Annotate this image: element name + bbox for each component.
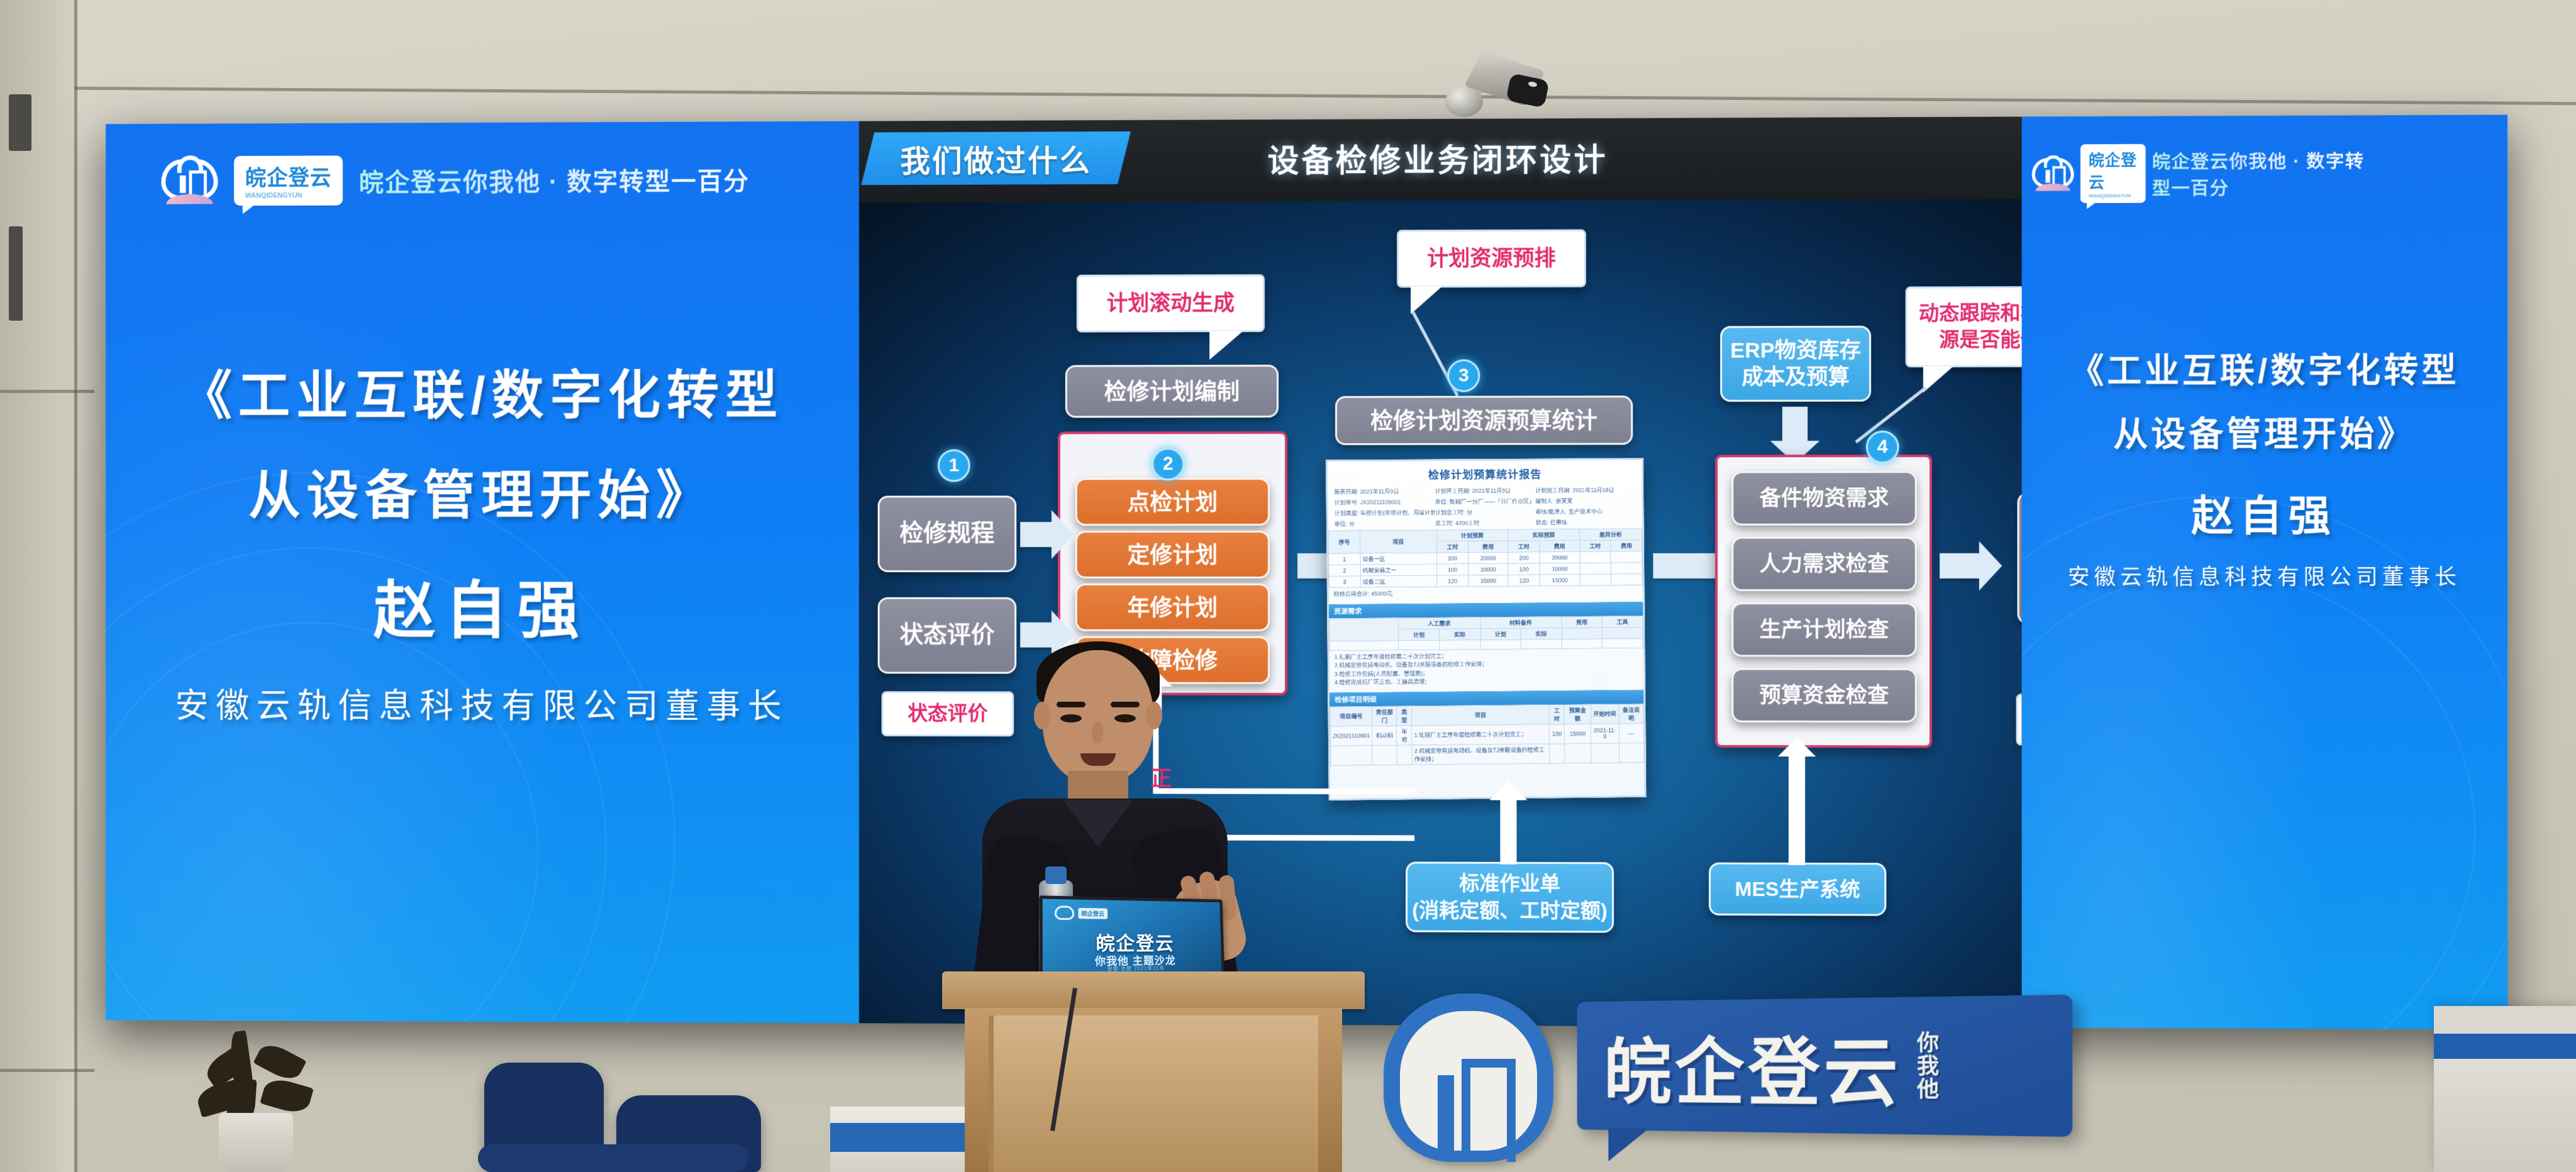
node-mes-system: MES生产系统 <box>1709 863 1886 916</box>
deck-title-line2: 从设备管理开始》 <box>106 453 859 529</box>
brand-tagline: 皖企登云你我他 · 数字转型一百分 <box>359 161 750 199</box>
report-sub-header: 费用 <box>1540 540 1580 551</box>
report-meta-item: 报表日期: 2021年11月9日 <box>1334 485 1435 497</box>
node-check-0: 备件物资需求 <box>1731 471 1917 526</box>
report-detail-table: 项目编号 责任部门 类型 项目 工时 预算金额 开始时间 备注说明 JX2021… <box>1330 704 1644 766</box>
report-group-header: 差异分析 <box>1579 529 1642 541</box>
arrow-std-up <box>1500 799 1516 865</box>
callout-risk-prompt: 风险提示 <box>2016 694 2022 746</box>
callout-dynamic-tracking: 动态跟踪和检查资源是否能保障 <box>1906 286 2022 367</box>
left-title-panel: 皖企登云 WANQIDENGYUN 皖企登云你我他 · 数字转型一百分 《工业互… <box>106 121 859 1024</box>
report-screenshot: 检修计划预算统计报告 报表日期: 2021年11月9日 计划开工日期: 2021… <box>1326 458 1646 800</box>
report-meta-item: 计划总工时: 分 <box>1435 506 1536 517</box>
brand-chip: 皖企登云 WANQIDENGYUN <box>2080 144 2146 203</box>
node-plan-item-2: 年修计划 <box>1075 583 1270 631</box>
report-sub-header: 工时 <box>1579 540 1611 551</box>
bottle-cap <box>1045 866 1067 884</box>
deck-speaker-name: 赵自强 <box>2022 482 2507 543</box>
deck-title-line1: 《工业互联/数字化转型 <box>2022 342 2507 393</box>
report-sub-header: 工时 <box>1436 541 1468 553</box>
table-row: 2.机械定修包括电动机、设备及TJ关联设备的检修工作安排； <box>1330 743 1644 765</box>
report-sub-header: 费用 <box>1468 541 1508 552</box>
step-badge-2: 2 <box>1152 448 1184 480</box>
report-meta-item: 计划单号: JX20211109001 <box>1334 496 1435 507</box>
report-meta-item: 编制人: 张某某 <box>1535 495 1635 506</box>
callout-resource-prearrange: 计划资源预排 <box>1397 229 1586 288</box>
wanqi-cloud-logo-icon <box>161 157 218 206</box>
security-camera-icon <box>1434 38 1547 113</box>
report-sub-header: 工时 <box>1508 541 1540 552</box>
arrow-erp-down <box>1782 407 1807 442</box>
report-col-no: 序号 <box>1328 531 1360 553</box>
node-check-2: 生产计划检查 <box>1731 602 1917 657</box>
wall-seam <box>0 390 94 393</box>
report-note-line: 4.检修完成后厂区三包、工器具清理； <box>1335 676 1638 687</box>
deck-title-line1: 《工业互联/数字化转型 <box>106 353 859 429</box>
slide-title: 设备检修业务闭环设计 <box>859 133 2022 183</box>
brand-chip-text: 皖企登云 <box>2089 152 2137 191</box>
step-badge-4: 4 <box>1866 431 1899 463</box>
step-badge-3: 3 <box>1447 359 1480 392</box>
report-meta-item: 计划开工日期: 2021年11月9日 <box>1435 485 1535 496</box>
laptop-brand-chip: 皖企登云 <box>1078 907 1108 919</box>
deck-speaker-name: 赵自强 <box>106 560 859 650</box>
laptop-brand: 皖企登云 <box>1055 905 1108 920</box>
report-title: 检修计划预算统计报告 <box>1328 460 1642 485</box>
sign-side-text: 你我他 <box>1914 1031 1937 1101</box>
side-table-right <box>2434 1006 2576 1172</box>
callout-text: 计划滚动生成 <box>1107 289 1235 318</box>
deck-speaker-role: 安徽云轨信息科技有限公司董事长 <box>106 678 859 728</box>
node-plan-compile: 检修计划编制 <box>1065 365 1279 417</box>
report-meta-item: 单位: 分 <box>1335 517 1435 529</box>
callout-tail <box>1923 366 1954 392</box>
report-sub-header: 费用 <box>1611 540 1642 551</box>
report-meta-item: 单位: 炼钢厂一分厂——「分厂作业区」 <box>1435 495 1536 507</box>
brand-tagline: 皖企登云你我他 · 数字转型一百分 <box>2152 146 2371 200</box>
brand-chip: 皖企登云 WANQIDENGYUN <box>234 155 343 206</box>
report-col-name: 项目 <box>1360 530 1436 553</box>
report-meta-item: 计划完工日期: 2021年11月18日 <box>1535 484 1635 495</box>
node-budget-statistics: 检修计划资源预算统计 <box>1335 395 1633 445</box>
report-group-header: 实际预算 <box>1508 529 1580 541</box>
sign-plate: 皖企登云 你我他 <box>1577 995 2073 1137</box>
arrow-checks-to-risk <box>1940 553 1980 578</box>
table-top <box>2434 1006 2576 1034</box>
report-meta: 报表日期: 2021年11月9日 计划开工日期: 2021年11月9日 计划完工… <box>1328 483 1642 530</box>
node-inspection-rule: 检修规程 <box>878 495 1017 572</box>
brand-bar: 皖企登云 WANQIDENGYUN 皖企登云你我他 · 数字转型一百分 <box>106 153 859 206</box>
callout-plan-rolling: 计划滚动生成 <box>1077 274 1265 333</box>
table-skirt <box>2434 1034 2576 1059</box>
podium-front-face <box>989 1015 1318 1172</box>
node-risk-analysis: 检修资源 风险分析 预警 <box>2018 492 2022 624</box>
led-video-wall: 皖企登云 WANQIDENGYUN 皖企登云你我他 · 数字转型一百分 《工业互… <box>106 115 2507 1030</box>
podium-top <box>942 971 1365 1009</box>
brand-chip-text: 皖企登云 <box>245 166 332 190</box>
wall-left-column <box>0 0 75 1172</box>
potted-plant <box>189 1019 321 1172</box>
sign-main-text: 皖企登云 <box>1604 1011 1902 1120</box>
node-plan-item-1: 定修计划 <box>1075 531 1270 578</box>
chair-seat <box>478 1144 748 1172</box>
deck-speaker-role: 安徽云轨信息科技有限公司董事长 <box>2022 560 2507 591</box>
node-check-3: 预算资金检查 <box>1731 668 1917 723</box>
node-erp-inventory: ERP物资库存 成本及预算 <box>1720 326 1871 402</box>
arrow-rule-to-plan <box>1020 522 1053 547</box>
wall-seam <box>0 1069 94 1072</box>
floor-standing-sign: 皖企登云 你我他 <box>1371 981 2075 1172</box>
report-notes: 1.轧钢厂主工序年度检修第二十次计划完工； 2.机械定修包括电动机、设备及TJ关… <box>1330 648 1644 690</box>
report-resource-table: 人工需求 材料备件 费用 工具 计划 实际 计划 实际 <box>1329 616 1643 651</box>
report-meta-item: 计划类型: 年修计划(年修计划、月度计划) <box>1335 507 1435 518</box>
wall-vent <box>9 226 23 321</box>
laptop-screen[interactable]: 皖企登云 皖企登云 你我他 主题沙龙 安徽·合肥 2021年11月 <box>1039 895 1224 982</box>
wanqi-cloud-logo-icon <box>1384 993 1553 1162</box>
step-badge-1: 1 <box>938 450 970 482</box>
deck-title-line2: 从设备管理开始》 <box>2022 406 2507 456</box>
table-row: JX2021110901机动科年修 1.轧钢厂主工序年度检修第二十次计划完工； … <box>1330 723 1644 746</box>
report-group-header: 计划预算 <box>1436 529 1508 541</box>
report-meta-item: 审核/批准人: 生产技术中心 <box>1535 506 1635 517</box>
report-meta-item: 状态: 已审核 <box>1536 516 1636 528</box>
node-standard-work-order: 标准作业单 (消耗定额、工时定额) <box>1406 861 1614 932</box>
right-title-panel: 皖企登云 WANQIDENGYUN 皖企登云你我他 · 数字转型一百分 《工业互… <box>2022 115 2507 1030</box>
arrow-report-to-checks <box>1653 553 1721 578</box>
brand-chip-sub: WANQIDENGYUN <box>245 192 332 199</box>
node-plan-item-0: 点检计划 <box>1075 478 1270 526</box>
arrow-mes-up <box>1789 755 1805 865</box>
callout-tail <box>1209 331 1243 360</box>
brand-bar-right: 皖企登云 WANQIDENGYUN 皖企登云你我他 · 数字转型一百分 <box>2022 143 2371 203</box>
report-main-table: 序号 项目 计划预算 实际预算 差异分析 工时 费用 工时 费用 工时 费用 <box>1328 528 1643 588</box>
wanqi-cloud-logo-icon <box>2032 156 2074 192</box>
report-total: 检修费用合计: 45000元 <box>1329 585 1643 601</box>
callout-tail <box>1411 286 1442 314</box>
screenshot-stage: 皖企登云 WANQIDENGYUN 皖企登云你我他 · 数字转型一百分 《工业互… <box>0 0 2576 1172</box>
node-check-1: 人力需求检查 <box>1731 537 1917 591</box>
report-meta-item: 总工时: 4200工时 <box>1435 517 1536 528</box>
wanqi-cloud-logo-icon <box>1055 905 1074 920</box>
podium: 皖企登云 皖企登云 你我他 主题沙龙 安徽·合肥 2021年11月 <box>942 971 1365 1172</box>
brand-chip-sub: WANQIDENGYUN <box>2089 193 2137 198</box>
wall-vent <box>9 94 31 151</box>
wall-seam <box>74 0 77 1172</box>
